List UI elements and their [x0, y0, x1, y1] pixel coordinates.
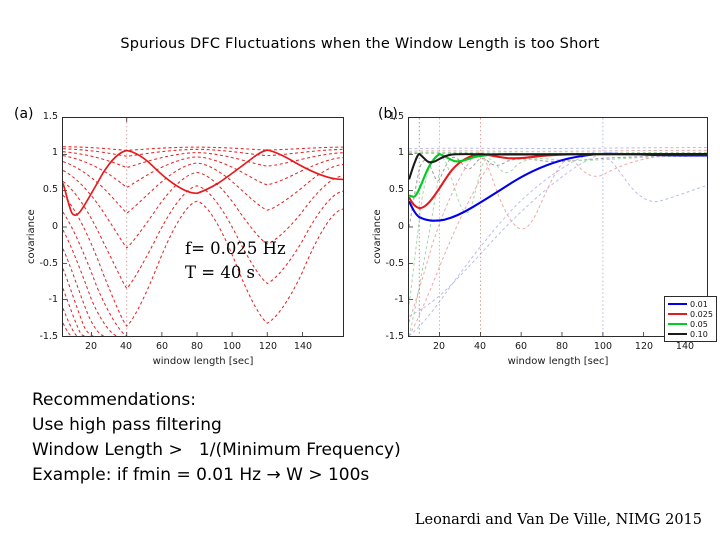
recommendations-heading: Recommendations:	[32, 388, 401, 413]
panel-b-curve-0.01	[409, 154, 707, 221]
recommendations-block: Recommendations: Use high pass filtering…	[32, 388, 401, 488]
panel-b-xtick-40: 40	[465, 342, 495, 352]
panel-a-ytick--1: -1	[30, 295, 58, 305]
panel-a-plot-area	[62, 117, 344, 337]
panel-a-ytick-1: 1	[30, 148, 58, 158]
panel-b-ytick--1.5: -1.5	[376, 332, 404, 342]
panel-a-xtick-80: 80	[182, 342, 212, 352]
figure-panel-a: (a) 1.5 1 0.5 0 -0.5 -1 -1.5 covariance	[14, 104, 364, 376]
panel-a-annotation-frequency: f= 0.025 Hz	[185, 238, 286, 260]
legend-swatch-icon-0.10	[668, 333, 687, 335]
legend-item-0.10[interactable]: 0.10	[667, 329, 713, 339]
panel-b-xtick-120: 120	[629, 342, 659, 352]
panel-a-xtick-120: 120	[253, 342, 283, 352]
panel-a-y-axis-label: covariance	[26, 209, 37, 264]
panel-a-xtick-100: 100	[217, 342, 247, 352]
panel-b-dashed-curves	[409, 148, 707, 336]
panel-b-ytick-1.5: 1.5	[376, 112, 404, 122]
panel-a-xtick-40: 40	[111, 342, 141, 352]
legend-label-0.025: 0.025	[690, 310, 713, 319]
panel-a-plot-svg	[63, 118, 343, 336]
panel-a-xtick-60: 60	[147, 342, 177, 352]
panel-a-x-axis-label: window length [sec]	[62, 356, 344, 367]
panel-a-ytick-1.5: 1.5	[30, 112, 58, 122]
panel-b-xtick-100: 100	[588, 342, 618, 352]
legend-swatch-icon-0.01	[668, 303, 687, 305]
panel-b-x-axis-label: window length [sec]	[408, 356, 708, 367]
legend-label-0.10: 0.10	[690, 330, 708, 339]
panel-b-ytick--1: -1	[376, 295, 404, 305]
panel-a-annotation-period: T = 40 s	[185, 262, 255, 284]
panel-a-xtick-20: 20	[76, 342, 106, 352]
panel-a-ytick--1.5: -1.5	[30, 332, 58, 342]
panel-b-xtick-20: 20	[424, 342, 454, 352]
panel-b-xtick-60: 60	[506, 342, 536, 352]
legend-swatch-icon-0.05	[668, 323, 687, 325]
panel-b-xtick-140: 140	[670, 342, 700, 352]
panel-b-plot-area: 0.01 0.025 0.05 0.10	[408, 117, 708, 337]
panel-b-ytick-1: 1	[376, 148, 404, 158]
panel-b-ticks	[409, 154, 684, 336]
recommendations-line-2: Window Length > 1/(Minimum Frequency)	[32, 438, 401, 463]
legend-swatch-icon-0.025	[668, 313, 687, 315]
panel-b-ytick-0.5: 0.5	[376, 185, 404, 195]
panel-a-solid-curve	[63, 150, 343, 215]
panel-b-plot-svg	[409, 118, 707, 336]
panel-b-gridlines	[419, 118, 603, 336]
legend-label-0.05: 0.05	[690, 320, 708, 329]
legend-item-0.025[interactable]: 0.025	[667, 309, 713, 319]
slide-title: Spurious DFC Fluctuations when the Windo…	[0, 36, 720, 52]
panel-a-xtick-140: 140	[288, 342, 318, 352]
legend[interactable]: 0.01 0.025 0.05 0.10	[664, 296, 717, 342]
recommendations-line-3: Example: if fmin = 0.01 Hz → W > 100s	[32, 463, 401, 488]
panel-b-xtick-80: 80	[547, 342, 577, 352]
recommendations-line-1: Use high pass filtering	[32, 413, 401, 438]
legend-label-0.01: 0.01	[690, 300, 708, 309]
legend-item-0.01[interactable]: 0.01	[667, 299, 713, 309]
citation: Leonardi and Van De Ville, NIMG 2015	[0, 512, 702, 528]
legend-item-0.05[interactable]: 0.05	[667, 319, 713, 329]
panel-b-y-axis-label: covariance	[372, 209, 383, 264]
panel-a-ytick-0.5: 0.5	[30, 185, 58, 195]
figure-panel-b: (b) 1.5 1 0.5 0 -0.5 -1 -1.5 covariance	[376, 104, 716, 376]
